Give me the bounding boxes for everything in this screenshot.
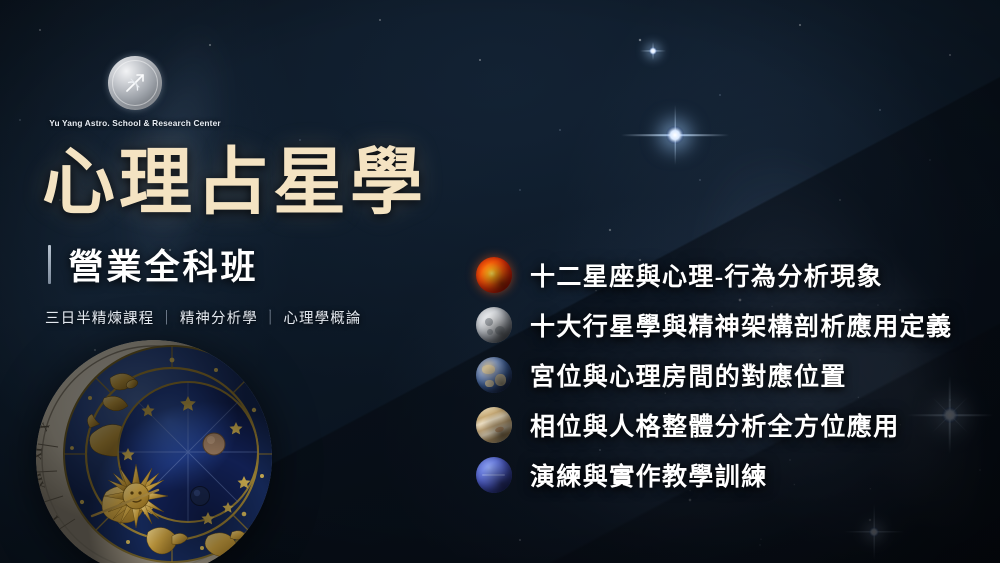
moon-planet-icon	[476, 307, 512, 343]
curriculum-item-label: 演練與實作教學訓練	[530, 457, 768, 493]
curriculum-item-label: 宮位與心理房間的對應位置	[530, 357, 847, 393]
tagline-part-2: 精神分析學	[180, 311, 258, 327]
list-item: 相位與人格整體分析全方位應用	[476, 404, 952, 446]
curriculum-item-label: 十二星座與心理-行為分析現象	[530, 257, 883, 293]
tagline-separator-2: ｜	[263, 311, 279, 327]
curriculum-item-label: 十大行星學與精神架構剖析應用定義	[530, 307, 952, 343]
sparkle-star-icon-bottom	[842, 500, 906, 563]
sun-planet-icon	[476, 257, 512, 293]
sagittarius-bow-emblem-icon	[108, 56, 162, 110]
small-star-flare-icon	[640, 38, 666, 64]
headline-block: 心理占星學 營業全科班 三日半精煉課程｜精神分析學｜心理學概論	[42, 146, 427, 328]
subtitle-row: 營業全科班	[48, 239, 427, 290]
earth-planet-icon	[476, 357, 512, 393]
list-item: 十大行星學與精神架構剖析應用定義	[476, 304, 952, 346]
poster-canvas: Yu Yang Astro. School & Research Center …	[0, 0, 1000, 563]
curriculum-item-label: 相位與人格整體分析全方位應用	[530, 407, 900, 443]
page-title: 心理占星學	[42, 146, 427, 219]
curriculum-list: 十二星座與心理-行為分析現象 十大行星學與精神架構剖析應用定義 宮位與心理房間的…	[476, 254, 952, 496]
neptune-planet-icon	[476, 457, 512, 493]
bright-star-flare-icon	[620, 80, 730, 190]
tagline-part-3: 心理學概論	[283, 311, 361, 327]
brand-logo-block: Yu Yang Astro. School & Research Center	[45, 56, 225, 128]
zodiac-astrolabe-image: X XI XII I	[32, 336, 276, 563]
list-item: 十二星座與心理-行為分析現象	[476, 254, 952, 296]
list-item: 宮位與心理房間的對應位置	[476, 354, 952, 396]
list-item: 演練與實作教學訓練	[476, 454, 952, 496]
course-tagline: 三日半精煉課程｜精神分析學｜心理學概論	[45, 307, 427, 328]
subtitle-accent-bar	[48, 245, 51, 284]
tagline-part-1: 三日半精煉課程	[45, 311, 154, 327]
page-subtitle: 營業全科班	[69, 239, 259, 290]
tagline-separator-1: ｜	[159, 311, 175, 327]
jupiter-planet-icon	[476, 407, 512, 443]
brand-logo-text: Yu Yang Astro. School & Research Center	[45, 118, 225, 128]
